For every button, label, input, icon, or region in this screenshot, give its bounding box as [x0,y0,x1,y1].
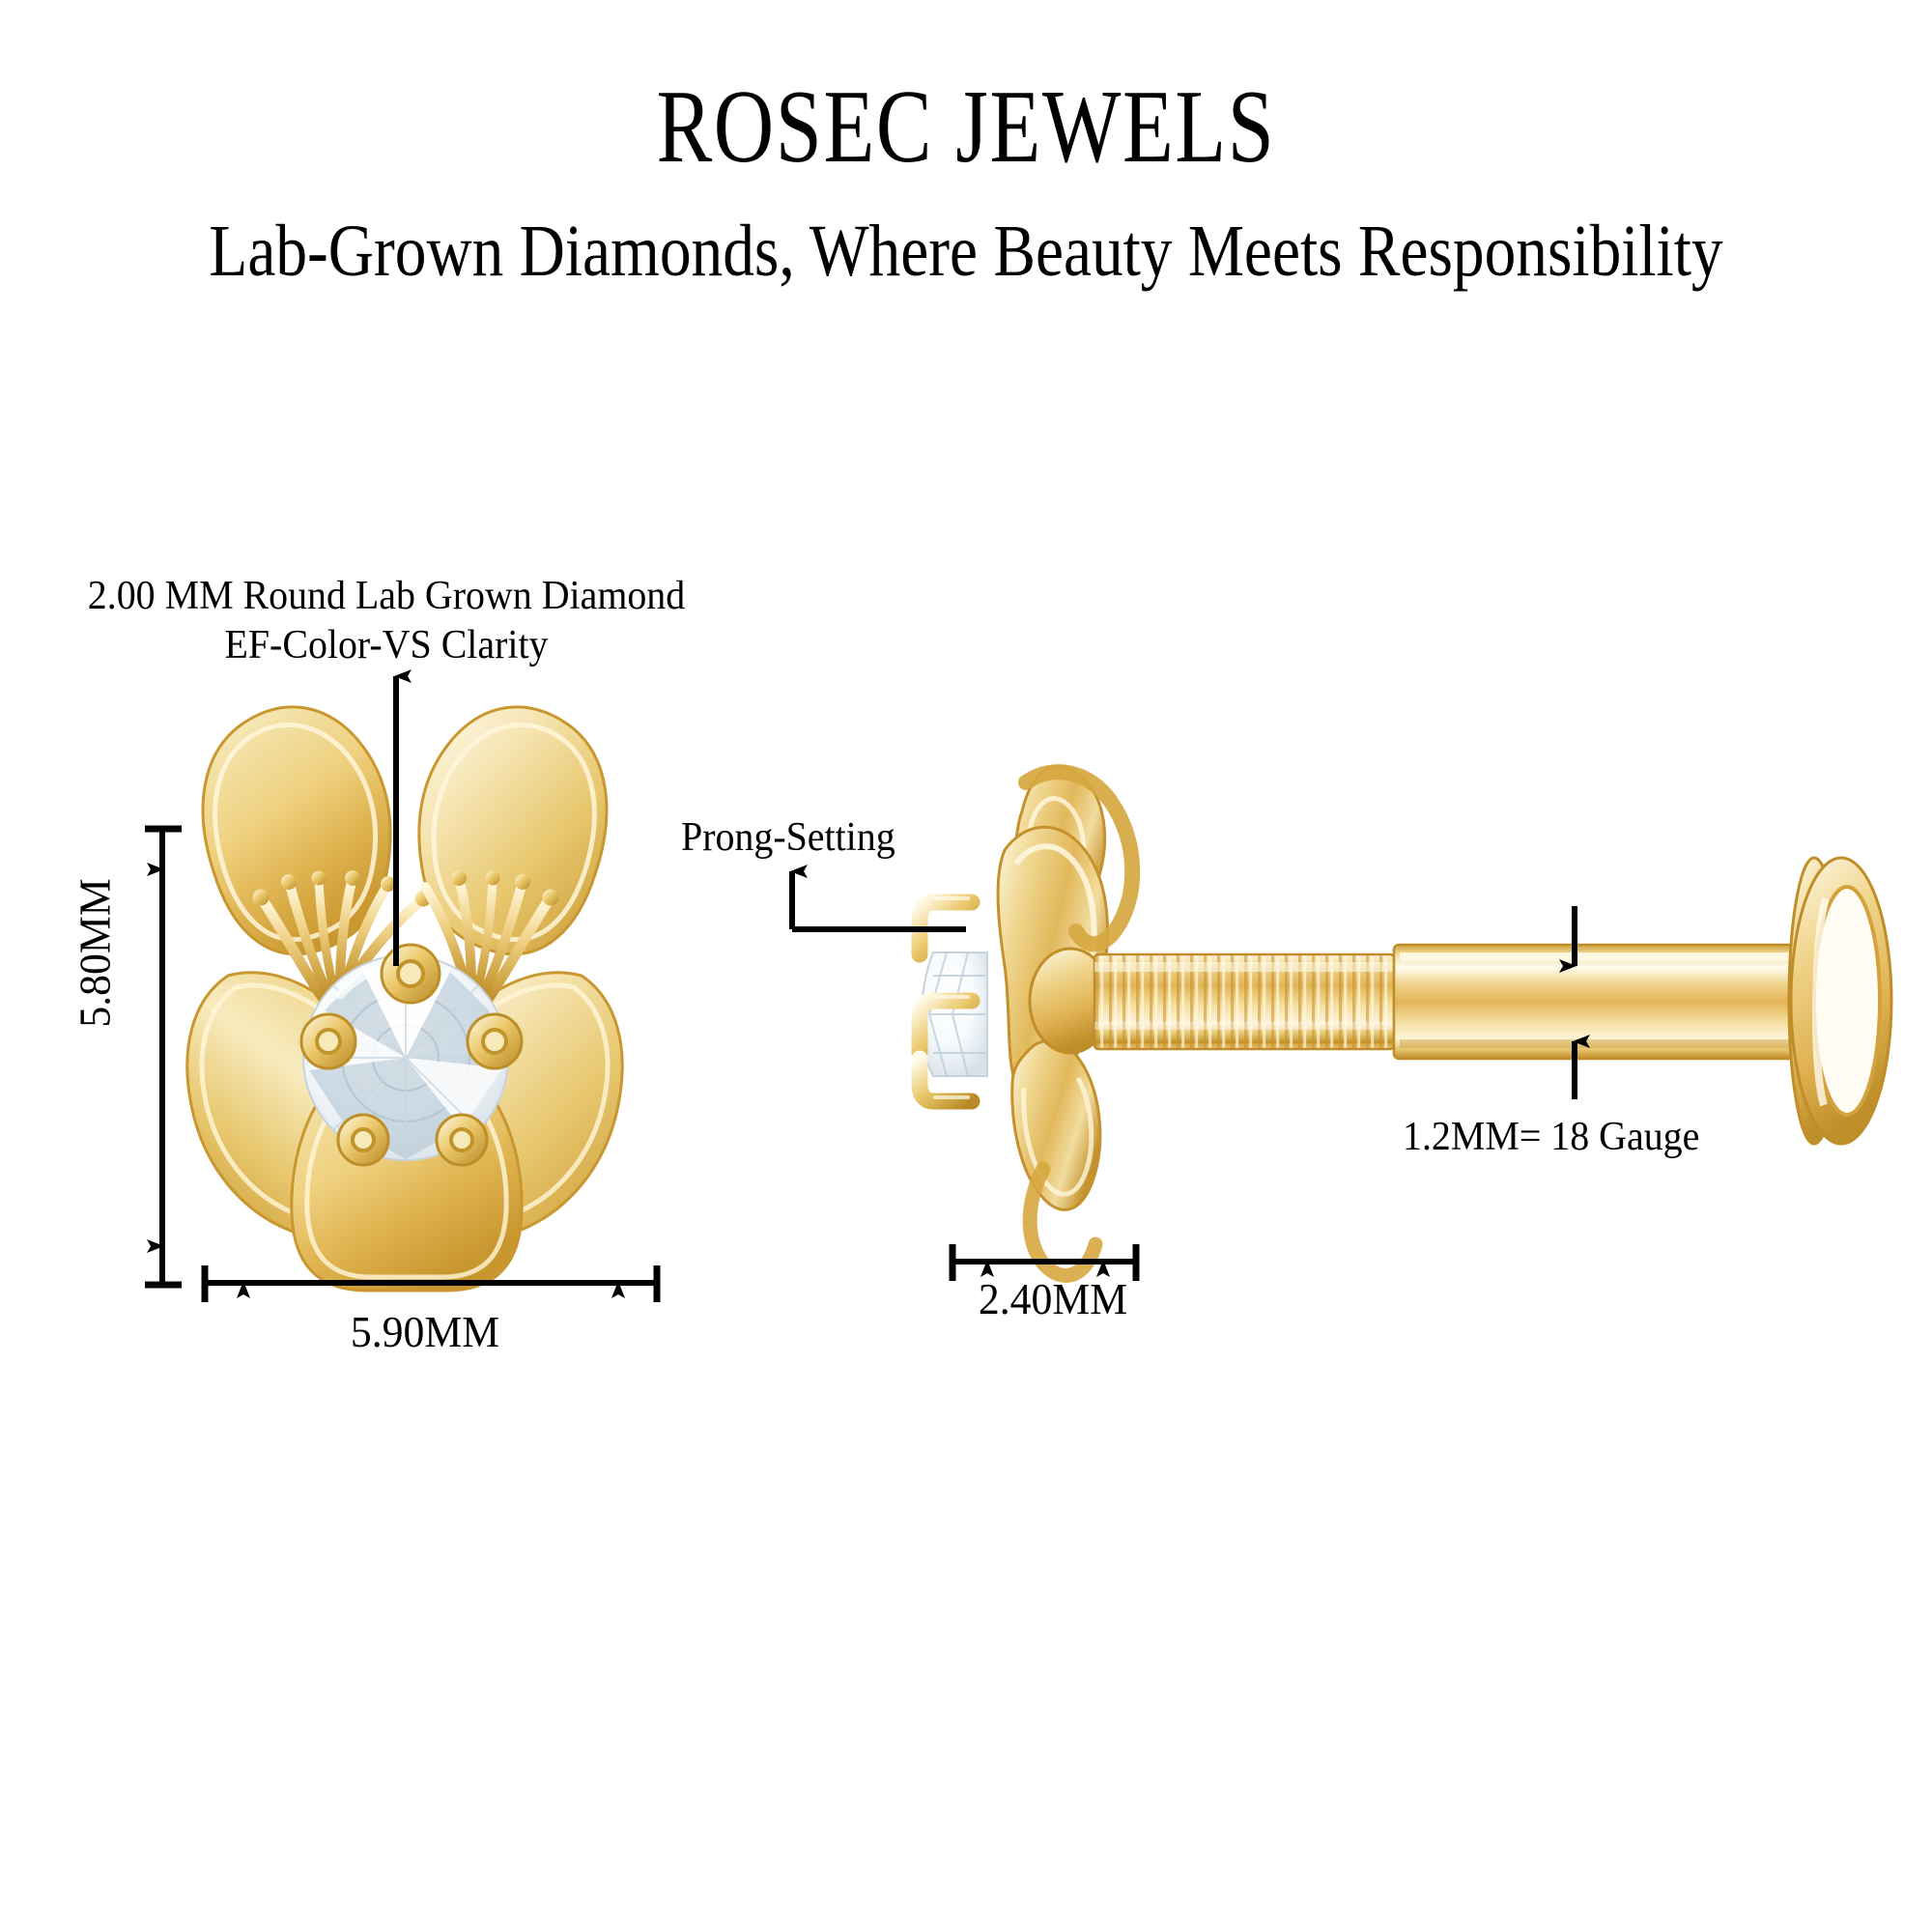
page-title: ROSEC JEWELS [193,75,1739,180]
stamen-tip [451,870,467,886]
dimension-label-height: 5.80MM [70,807,121,1100]
dimension-label-depth: 2.40MM [943,1273,1163,1324]
page-subtitle: Lab-Grown Diamonds, Where Beauty Meets R… [135,214,1797,288]
dimension-line-height [145,829,182,1285]
threaded-screw-post [1094,954,1394,1049]
stamen-tip [381,876,396,892]
petal-right [407,973,623,1239]
stamen-tip [281,874,297,890]
prongs-side [920,902,972,1101]
stamen-tip [415,891,432,907]
petal-upper-left [203,707,390,954]
dimension-line-width [205,1265,657,1302]
stamen-tip [253,890,270,906]
annotation-lines [145,676,1575,1302]
petal-upper-right [419,707,607,954]
diamond-spec-callout: 2.00 MM Round Lab Grown Diamond EF-Color… [56,572,717,670]
earring-post [1394,945,1822,1059]
stamen-tip [345,870,360,886]
flower-stud-front-view [187,707,622,1291]
side-petal-top [1013,766,1104,940]
diamond-spec-line-1: 2.00 MM Round Lab Grown Diamond [56,572,717,621]
side-petal-bottom [1012,1040,1100,1209]
petal-bottom [292,1049,522,1292]
stamen-tip [543,890,559,906]
prong-bottom-right [437,1115,487,1165]
petal-left [187,973,404,1239]
leader-line-prong [792,881,966,929]
side-petal-body [998,827,1107,1098]
prong-right [468,1014,522,1068]
stamen-wires-right [425,881,549,1001]
prong-setting-callout: Prong-Setting [681,813,895,863]
stamen-tip [515,874,530,890]
stamen-tip [486,871,500,886]
flower-stud-side-view [920,766,1891,1275]
prongs-front [301,945,522,1165]
round-brilliant-diamond-front [303,955,508,1160]
side-petal-rear-lower [1030,1169,1095,1275]
gauge-callout: 1.2MM= 18 Gauge [1403,1113,1699,1162]
side-petal-rear [1026,772,1132,944]
round-brilliant-diamond-side [922,952,987,1076]
diamond-spec-line-2: EF-Color-VS Clarity [56,621,717,670]
prong-bottom-left [338,1115,388,1165]
post-hub [1030,949,1111,1053]
stamen-wires-left [263,881,421,1001]
dimension-label-width: 5.90MM [205,1306,645,1357]
product-diagram-canvas: ROSEC JEWELS Lab-Grown Diamonds, Where B… [0,0,1932,1932]
stamen-tip [312,871,327,886]
prong-top [382,945,440,1003]
flat-disc-back [1789,858,1891,1144]
prong-left [301,1014,355,1068]
